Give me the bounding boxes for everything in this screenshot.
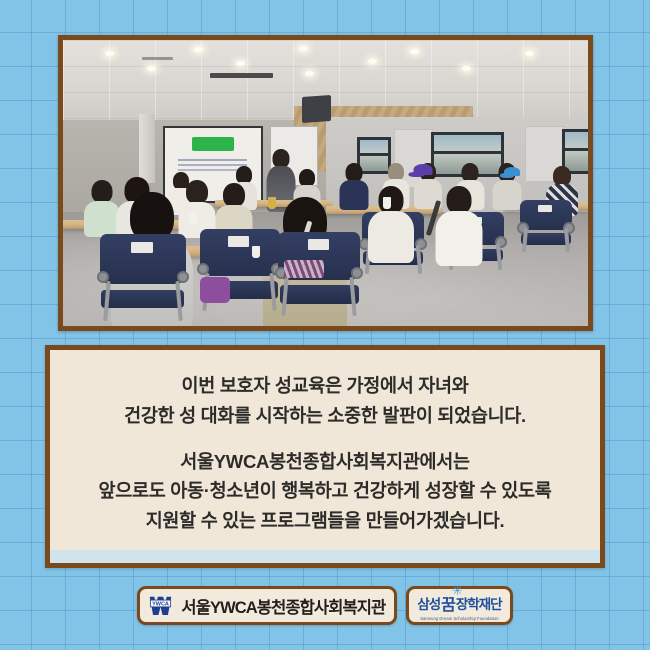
star-icon: ✳ [452, 584, 462, 597]
promo-card: 이번 보호자 성교육은 가정에서 자녀와 건강한 성 대화를 시작하는 소중한 … [0, 0, 650, 650]
samsung-subtitle: Samsung Dream Scholarship Foundation [420, 616, 498, 621]
message-line: 이번 보호자 성교육은 가정에서 자녀와 [50, 371, 600, 401]
samsung-suffix: 장학재단 [456, 593, 502, 613]
chair-tag [538, 205, 552, 212]
chair [100, 234, 186, 320]
attendee [362, 186, 420, 266]
attendee [431, 186, 489, 266]
chair [520, 200, 572, 252]
paragraph-2: 서울YWCA봉천종합사회복지관에서는 앞으로도 아동·청소년이 행복하고 건강하… [50, 447, 600, 537]
torso [368, 211, 414, 263]
head [447, 186, 472, 214]
message-line: 지원할 수 있는 프로그램들을 만들어가겠습니다. [50, 506, 600, 536]
ceiling-speaker [302, 95, 331, 123]
drink-cup [252, 246, 260, 258]
patterned-skirt [284, 260, 324, 278]
ceiling-vent [142, 57, 174, 60]
blue-cap [413, 164, 432, 175]
purple-bag [200, 277, 230, 303]
photo-scene [63, 40, 588, 326]
ceiling-light [299, 46, 308, 51]
slide-body-text [178, 159, 247, 161]
ywca-logo: YWCA 서울YWCA봉천종합사회복지관 [137, 586, 397, 625]
drink-cup [189, 212, 197, 224]
ceiling-light [462, 66, 471, 71]
message-line: 건강한 성 대화를 시작하는 소중한 발판이 되었습니다. [50, 401, 600, 431]
svg-text:YWCA: YWCA [152, 602, 169, 608]
chair-seat [101, 290, 184, 309]
ceiling-light [147, 66, 156, 71]
samsung-prefix: 삼성 [417, 593, 440, 613]
drink-cup [383, 197, 391, 209]
torso [492, 180, 521, 210]
drink-cup [268, 197, 276, 209]
head [553, 166, 571, 186]
chair-tag [308, 239, 329, 250]
chair-back [200, 229, 280, 277]
chair-leg [522, 228, 528, 252]
chair-seat [280, 285, 359, 303]
ceiling-vent [210, 73, 273, 78]
samsung-highlight: 꿈 ✳ [441, 591, 455, 615]
wall-column [139, 114, 155, 183]
ceiling-light [368, 59, 377, 64]
message-panel: 이번 보호자 성교육은 가정에서 자녀와 건강한 성 대화를 시작하는 소중한 … [45, 345, 605, 568]
paragraph-spacer [50, 431, 600, 447]
head [223, 183, 245, 207]
samsung-logo-row: 삼성 꿈 ✳ 장학재단 [417, 591, 501, 615]
ceiling-light [410, 49, 419, 54]
ywca-logo-label: 서울YWCA봉천종합사회복지관 [181, 594, 385, 618]
message-line: 앞으로도 아동·청소년이 행복하고 건강하게 성장할 수 있도록 [50, 476, 600, 506]
chair-back [100, 234, 186, 284]
panel-bottom-strip [50, 550, 600, 563]
torso [436, 211, 483, 266]
chair-tag [228, 236, 249, 246]
message-line: 서울YWCA봉천종합사회복지관에서는 [50, 447, 600, 477]
slide-title-band [192, 137, 234, 152]
chair-tag [131, 242, 153, 253]
event-photo [58, 35, 593, 331]
paragraph-1: 이번 보호자 성교육은 가정에서 자녀와 건강한 성 대화를 시작하는 소중한 … [50, 371, 600, 431]
chair-seat [521, 233, 571, 244]
footer-logos: YWCA 서울YWCA봉천종합사회복지관 삼성 꿈 ✳ 장학재단 Samsung… [0, 586, 650, 625]
ywca-w-icon: YWCA [147, 592, 174, 619]
blue-cap [504, 167, 520, 176]
samsung-foundation-logo: 삼성 꿈 ✳ 장학재단 Samsung Dream Scholarship Fo… [406, 586, 512, 625]
samsung-highlight-text: 꿈 [441, 597, 455, 614]
